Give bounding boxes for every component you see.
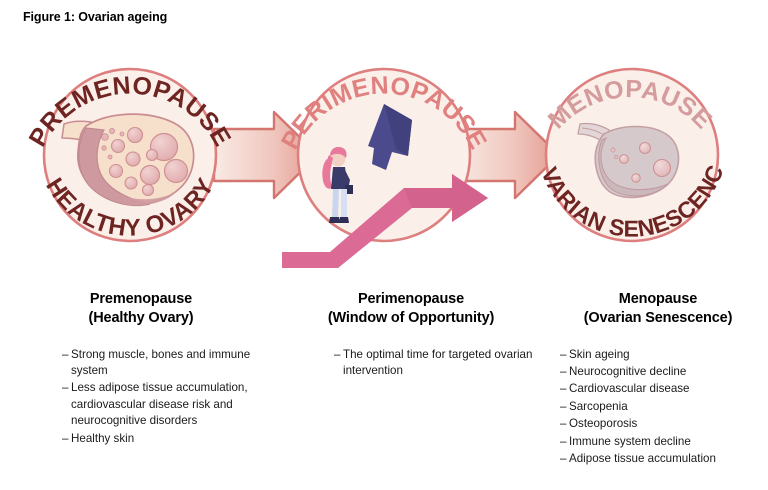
column-heading-premenopause: Premenopause (Healthy Ovary) — [0, 288, 282, 329]
dash-marker: – — [560, 416, 569, 432]
dash-marker: – — [334, 347, 343, 380]
dash-marker: – — [560, 347, 569, 363]
list-item-text: Less adipose tissue accumulation, cardio… — [71, 380, 282, 429]
column-heading-menopause: Menopause (Ovarian Senescence) — [540, 288, 768, 329]
dash-marker: – — [62, 347, 71, 380]
list-item: – Less adipose tissue accumulation, card… — [62, 380, 282, 429]
list-item: – Adipose tissue accumulation — [560, 451, 768, 467]
list-item-text: Immune system decline — [569, 434, 768, 450]
dash-marker: – — [62, 380, 71, 429]
list-item: – The optimal time for targeted ovarian … — [334, 347, 540, 380]
dash-marker: – — [560, 451, 569, 467]
diagram-node-premenopause[interactable]: PREMENOPAUSE HEALTHY OVARY — [24, 69, 237, 242]
list-item-text: Adipose tissue accumulation — [569, 451, 768, 467]
list-item-text: Sarcopenia — [569, 399, 768, 415]
dash-marker: – — [560, 434, 569, 450]
list-item-text: Osteoporosis — [569, 416, 768, 432]
dash-marker: – — [560, 381, 569, 397]
bullet-list-perimenopause: – The optimal time for targeted ovarian … — [334, 347, 540, 380]
bullet-list-premenopause: – Strong muscle, bones and immune system… — [62, 347, 282, 448]
list-item-text: Neurocognitive decline — [569, 364, 768, 380]
ovarian-ageing-diagram: PREMENOPAUSE HEALTHY OVARY — [0, 28, 768, 290]
list-item-text: The optimal time for targeted ovarian in… — [343, 347, 540, 380]
list-item-text: Strong muscle, bones and immune system — [71, 347, 282, 380]
bullet-list-menopause: – Skin ageing – Neurocognitive decline –… — [560, 347, 768, 468]
list-item-text: Skin ageing — [569, 347, 768, 363]
list-item-text: Cardiovascular disease — [569, 381, 768, 397]
dash-marker: – — [560, 399, 569, 415]
dash-marker: – — [62, 431, 71, 447]
page-title: Figure 1: Ovarian ageing — [23, 10, 167, 24]
list-item: – Strong muscle, bones and immune system — [62, 347, 282, 380]
list-item-text: Healthy skin — [71, 431, 282, 447]
list-item: – Cardiovascular disease — [560, 381, 768, 397]
list-item: – Neurocognitive decline — [560, 364, 768, 380]
stage-descriptions: Premenopause (Healthy Ovary) – Strong mu… — [0, 288, 768, 488]
stage-column-menopause: Menopause (Ovarian Senescence) – Skin ag… — [540, 288, 768, 488]
list-item: – Osteoporosis — [560, 416, 768, 432]
list-item: – Healthy skin — [62, 431, 282, 447]
dash-marker: – — [560, 364, 569, 380]
list-item: – Skin ageing — [560, 347, 768, 363]
column-heading-perimenopause: Perimenopause (Window of Opportunity) — [282, 288, 540, 329]
stage-column-premenopause: Premenopause (Healthy Ovary) – Strong mu… — [0, 288, 282, 488]
diagram-node-perimenopause[interactable]: PERIMENOPAUSE — [276, 69, 492, 268]
stage-column-perimenopause: Perimenopause (Window of Opportunity) – … — [282, 288, 540, 488]
list-item: – Immune system decline — [560, 434, 768, 450]
list-item: – Sarcopenia — [560, 399, 768, 415]
